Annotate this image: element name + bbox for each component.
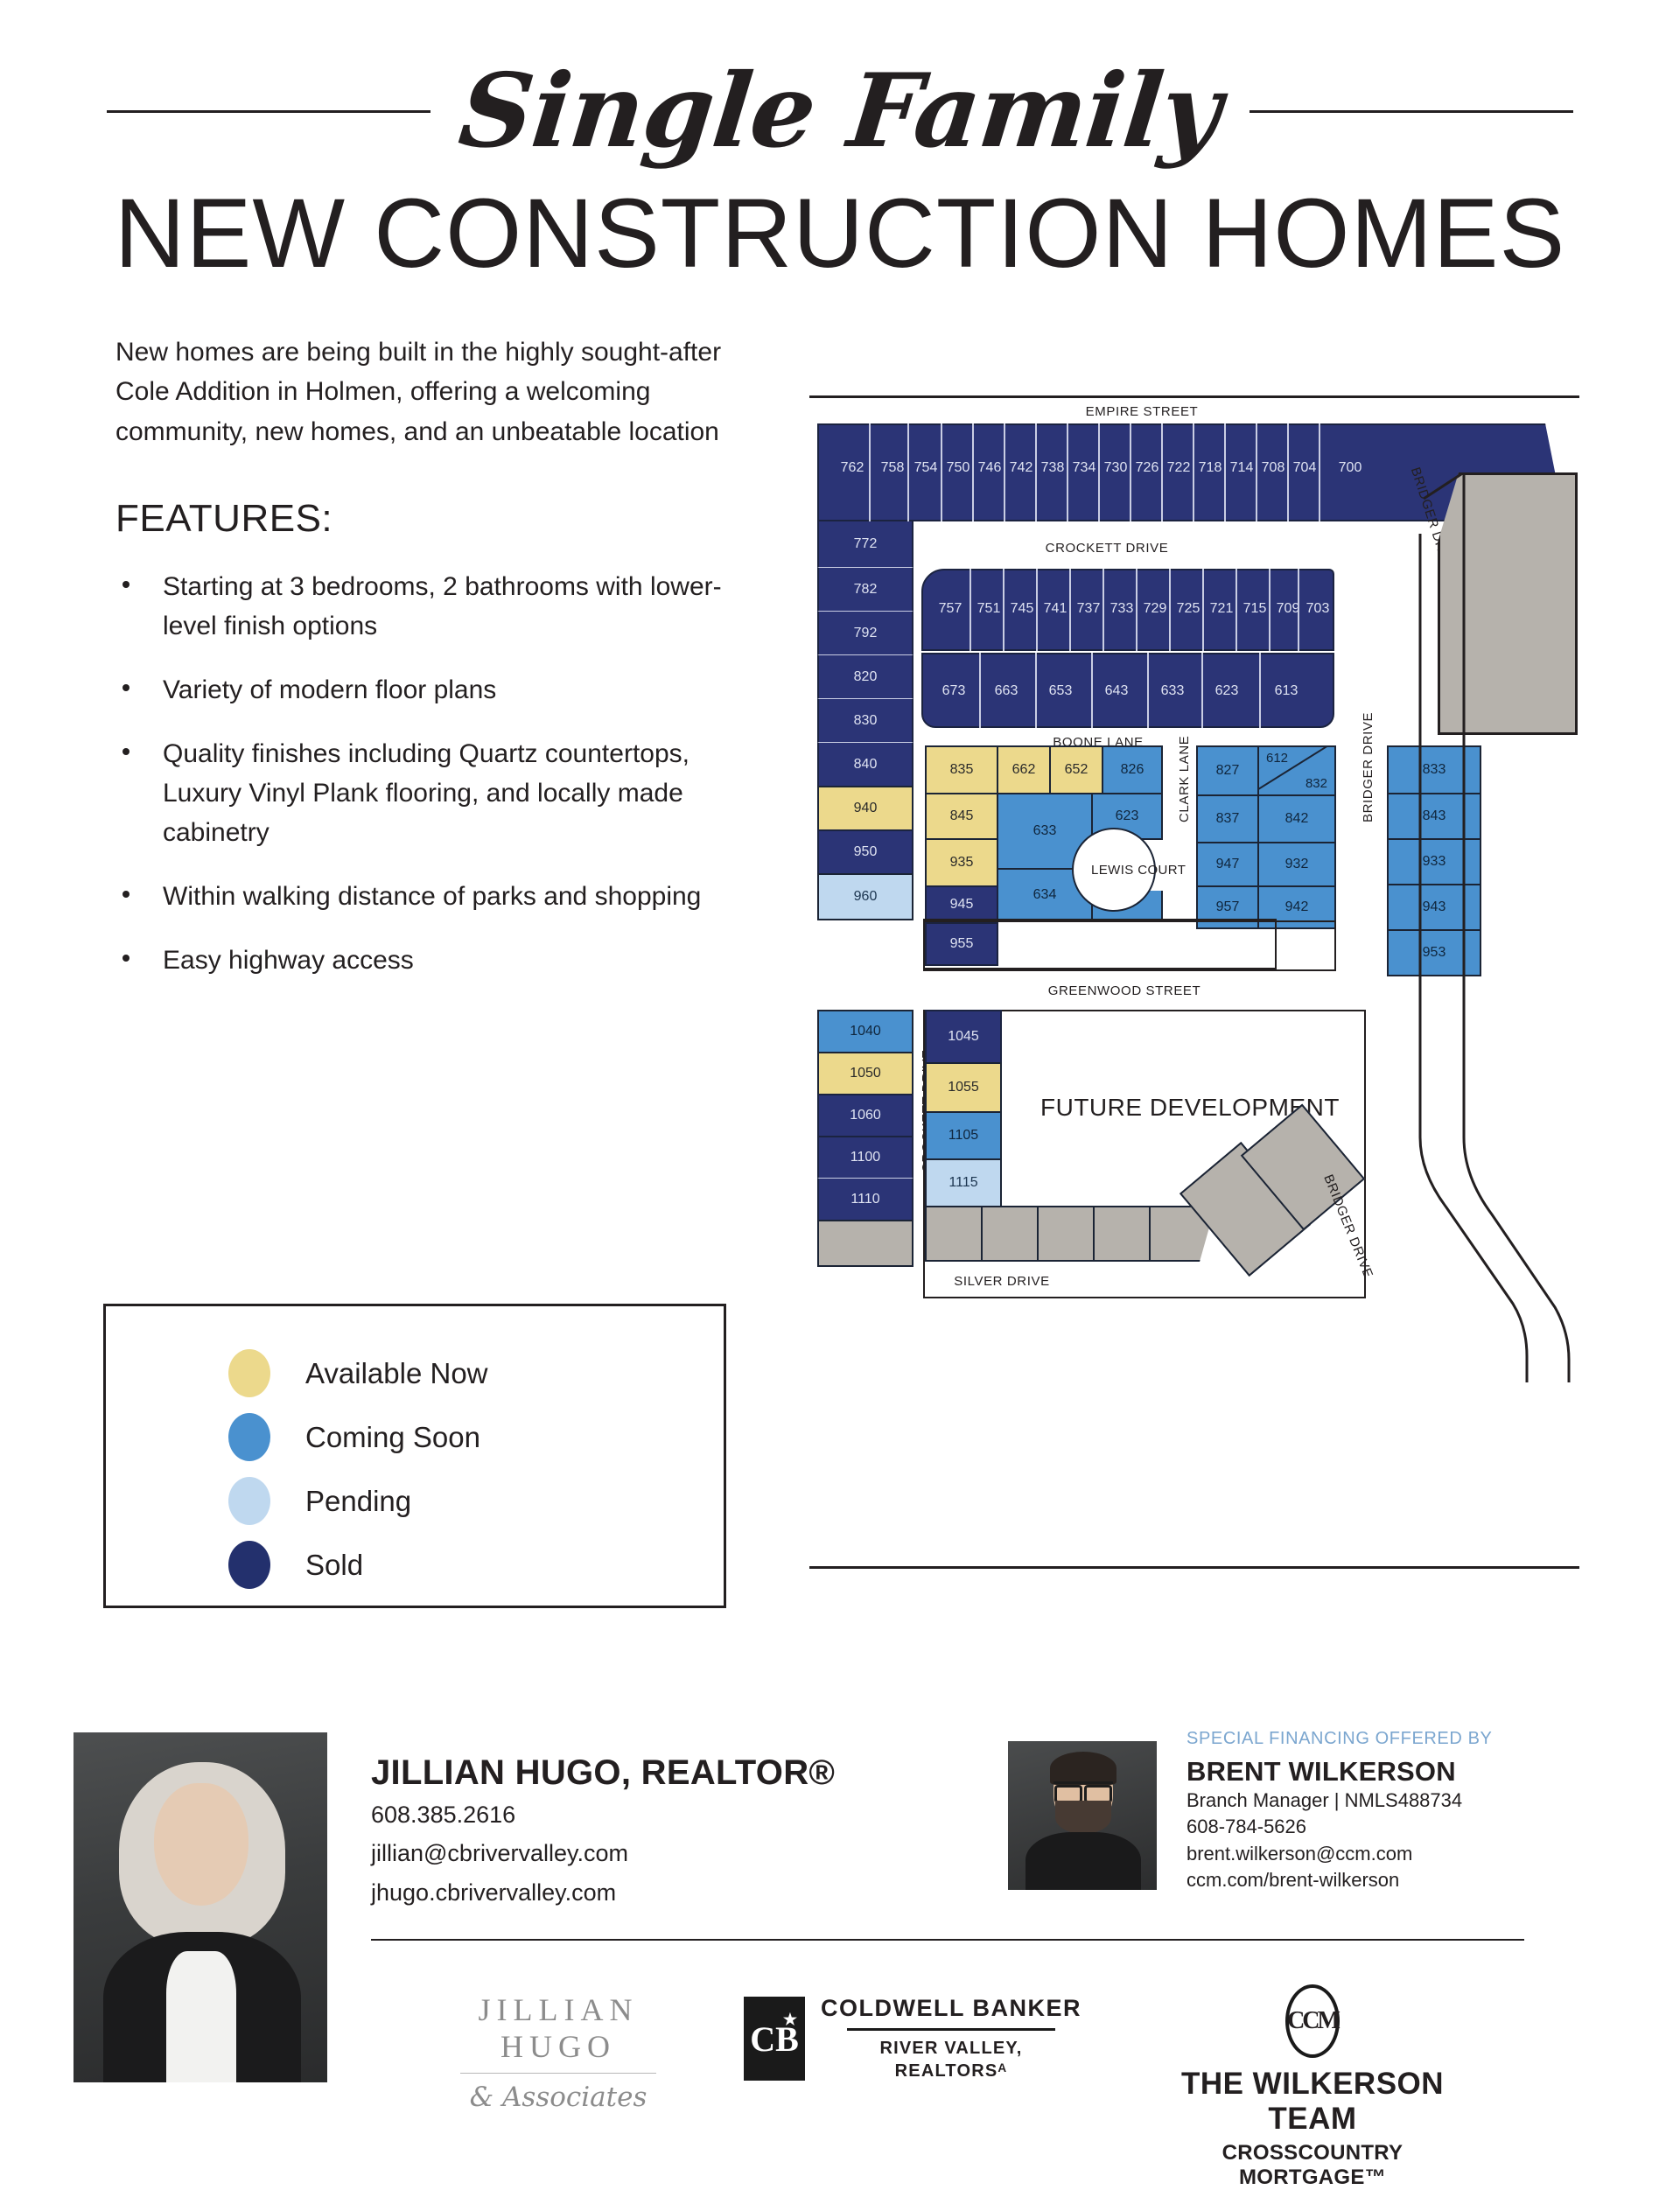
map-lot-820[interactable]: 820: [817, 654, 913, 700]
map-lot-708[interactable]: 708: [1256, 455, 1291, 481]
legend-label: Pending: [305, 1485, 411, 1518]
bridger-road-outline-upper: [1326, 472, 1579, 997]
intro-paragraph: New homes are being built in the highly …: [115, 332, 763, 452]
feature-text: Within walking distance of parks and sho…: [163, 882, 701, 911]
map-lot-827[interactable]: 827: [1196, 745, 1259, 796]
map-lot-633b[interactable]: 633: [1149, 679, 1196, 703]
lender-email[interactable]: brent.wilkerson@ccm.com: [1186, 1841, 1492, 1867]
map-lot-726[interactable]: 726: [1130, 455, 1165, 481]
legend-label: Available Now: [305, 1357, 488, 1390]
avatar-hair: [1050, 1752, 1116, 1785]
bullet-icon: [122, 684, 129, 691]
agent-website[interactable]: jhugo.cbrivervalley.com: [371, 1876, 835, 1909]
map-lot-1045[interactable]: 1045: [925, 1010, 1002, 1064]
map-lot-730[interactable]: 730: [1098, 455, 1133, 481]
map-lot-935[interactable]: 935: [925, 838, 998, 887]
map-lot-832-label: 832: [1305, 776, 1327, 791]
map-lot-1060[interactable]: 1060: [817, 1094, 913, 1137]
map-lot-750[interactable]: 750: [941, 455, 976, 481]
header-rule-left: [107, 110, 430, 113]
map-lot-754[interactable]: 754: [907, 455, 944, 481]
center-block-outline: [923, 919, 1277, 969]
avatar-face: [154, 1783, 248, 1906]
swatch-available-icon: [228, 1349, 270, 1397]
map-lot-826[interactable]: 826: [1102, 745, 1163, 794]
map-lot-947[interactable]: 947: [1196, 842, 1259, 887]
swatch-pending-icon: [228, 1477, 270, 1525]
script-title: Single Family: [455, 60, 1225, 162]
map-lot-746[interactable]: 746: [972, 455, 1007, 481]
logo-jillian-hugo: JILLIAN HUGO & Associates: [444, 1991, 672, 2113]
swatch-coming-soon-icon: [228, 1413, 270, 1461]
map-lot-940[interactable]: 940: [817, 786, 913, 831]
logo-wt-line2: CROSSCOUNTRY MORTGAGE™: [1155, 2141, 1470, 2190]
list-item: Within walking distance of parks and sho…: [115, 877, 745, 916]
map-lot-718[interactable]: 718: [1193, 455, 1228, 481]
coldwell-banker-mark-icon: CB ★: [744, 1997, 805, 2081]
map-lot-845[interactable]: 845: [925, 793, 998, 840]
map-lot-932[interactable]: 932: [1257, 842, 1336, 887]
map-parcel-gray-s3: [1037, 1206, 1095, 1262]
map-lot-663[interactable]: 663: [983, 679, 1030, 703]
legend-item-available: Available Now: [228, 1341, 724, 1405]
map-lot-1050[interactable]: 1050: [817, 1052, 913, 1095]
list-item: Variety of modern floor plans: [115, 670, 745, 710]
logo-cb-line2: RIVER VALLEY, REALTORSᴬ: [821, 2037, 1081, 2082]
map-lot-950[interactable]: 950: [817, 829, 913, 875]
map-lot-729[interactable]: 729: [1138, 597, 1172, 621]
map-lot-751[interactable]: 751: [972, 597, 1005, 621]
glasses-icon: [1053, 1781, 1113, 1795]
map-rule-top: [809, 395, 1579, 398]
map-lot-612-label: 612: [1266, 751, 1288, 766]
logo-coldwell-banker: CB ★ COLDWELL BANKER RIVER VALLEY, REALT…: [744, 1995, 1081, 2082]
ccm-mark-icon: CCM: [1285, 1984, 1340, 2058]
street-label-empire: EMPIRE STREET: [1028, 404, 1256, 419]
map-rule-bottom: [809, 1566, 1579, 1569]
lender-info: SPECIAL FINANCING OFFERED BY BRENT WILKE…: [1186, 1729, 1492, 1893]
map-parcel-gray-s4: [1093, 1206, 1151, 1262]
left-column: New homes are being built in the highly …: [115, 332, 780, 1005]
map-lot-653[interactable]: 653: [1037, 679, 1084, 703]
map-lot-1040[interactable]: 1040: [817, 1010, 913, 1053]
header-rule-right: [1249, 110, 1573, 113]
bridger-road-outline: [1326, 989, 1579, 1382]
script-title-row: Single Family: [0, 45, 1680, 177]
map-lot-662[interactable]: 662: [997, 745, 1051, 794]
map-lot-960[interactable]: 960: [817, 873, 913, 920]
feature-text: Variety of modern floor plans: [163, 675, 496, 704]
map-lot-1110[interactable]: 1110: [817, 1178, 913, 1221]
map-lot-792[interactable]: 792: [817, 611, 913, 656]
bullet-icon: [122, 581, 129, 588]
map-lot-652[interactable]: 652: [1049, 745, 1103, 794]
legend-label: Coming Soon: [305, 1421, 480, 1454]
map-lot-741[interactable]: 741: [1039, 597, 1072, 621]
map-parcel-gray-s1: [925, 1206, 983, 1262]
lender-kicker: SPECIAL FINANCING OFFERED BY: [1186, 1729, 1492, 1749]
agent-email[interactable]: jillian@cbrivervalley.com: [371, 1837, 835, 1870]
map-lot-673[interactable]: 673: [930, 679, 977, 703]
legend-item-coming-soon: Coming Soon: [228, 1405, 724, 1469]
map-lot-742[interactable]: 742: [1004, 455, 1039, 481]
bullet-icon: [122, 955, 129, 962]
logo-jillian-rule: [460, 2073, 656, 2074]
footer-divider: [371, 1939, 1524, 1941]
legend-label: Sold: [305, 1549, 363, 1582]
agent-phone[interactable]: 608.385.2616: [371, 1798, 835, 1831]
swatch-sold-icon: [228, 1541, 270, 1589]
map-lot-837[interactable]: 837: [1196, 794, 1259, 843]
map-lot-643[interactable]: 643: [1093, 679, 1140, 703]
plat-map: EMPIRE STREET 762 758 754 750 746 742 73…: [809, 385, 1579, 1627]
lender-phone[interactable]: 608-784-5626: [1186, 1814, 1492, 1840]
map-lot-725[interactable]: 725: [1172, 597, 1205, 621]
map-lot-623b[interactable]: 623: [1203, 679, 1250, 703]
street-label-lewis-court: LEWIS COURT: [1091, 863, 1186, 878]
page-title: NEW CONSTRUCTION HOMES: [0, 182, 1680, 285]
agent-name: JILLIAN HUGO, REALTOR®: [371, 1753, 835, 1793]
street-label-clark-lane: CLARK LANE: [1177, 736, 1192, 822]
legend-item-pending: Pending: [228, 1469, 724, 1533]
map-lot-721[interactable]: 721: [1205, 597, 1238, 621]
lender-title: Branch Manager | NMLS488734: [1186, 1788, 1492, 1814]
list-item: Starting at 3 bedrooms, 2 bathrooms with…: [115, 567, 745, 646]
map-lot-772[interactable]: 772: [817, 521, 913, 569]
map-lot-757[interactable]: 757: [932, 597, 969, 621]
street-label-crockett-top: CROCKETT DRIVE: [993, 541, 1221, 556]
map-lot-782[interactable]: 782: [817, 567, 913, 612]
map-lot-704[interactable]: 704: [1287, 455, 1322, 481]
features-list: Starting at 3 bedrooms, 2 bathrooms with…: [115, 567, 780, 980]
footer-logos: JILLIAN HUGO & Associates CB ★ COLDWELL …: [0, 1979, 1680, 2145]
list-item: Quality finishes including Quartz counte…: [115, 734, 745, 852]
bullet-icon: [122, 891, 129, 898]
lender-website[interactable]: ccm.com/brent-wilkerson: [1186, 1867, 1492, 1893]
map-lot-745[interactable]: 745: [1005, 597, 1039, 621]
logo-cb-rule: [847, 2028, 1055, 2031]
agent-info: JILLIAN HUGO, REALTOR® 608.385.2616 jill…: [371, 1753, 835, 1909]
avatar-body: [1025, 1832, 1141, 1890]
map-lot-1100[interactable]: 1100: [817, 1136, 913, 1179]
map-lot-737[interactable]: 737: [1072, 597, 1105, 621]
star-icon: ★: [783, 2011, 797, 2029]
lender-name: BRENT WILKERSON: [1186, 1756, 1492, 1788]
map-lot-835[interactable]: 835: [925, 745, 998, 794]
map-lot-714[interactable]: 714: [1224, 455, 1259, 481]
coldwell-banker-text: COLDWELL BANKER RIVER VALLEY, REALTORSᴬ: [821, 1995, 1081, 2082]
list-item: Easy highway access: [115, 941, 745, 980]
map-lot-1115[interactable]: 1115: [925, 1158, 1002, 1207]
map-parcel-gray-southwest: [817, 1220, 913, 1267]
map-lot-840[interactable]: 840: [817, 742, 913, 787]
avatar-beard: [1055, 1801, 1111, 1834]
map-lot-612-832-split[interactable]: 612 832: [1257, 745, 1336, 796]
street-label-silver: SILVER DRIVE: [914, 1274, 1089, 1289]
feature-text: Easy highway access: [163, 946, 414, 975]
logo-wt-line1: THE WILKERSON TEAM: [1155, 2067, 1470, 2137]
map-lot-715[interactable]: 715: [1238, 597, 1271, 621]
logo-cb-line1: COLDWELL BANKER: [821, 1995, 1081, 2022]
map-lot-1105[interactable]: 1105: [925, 1111, 1002, 1160]
feature-text: Starting at 3 bedrooms, 2 bathrooms with…: [163, 572, 722, 640]
features-heading: FEATURES:: [115, 497, 780, 541]
map-lot-762[interactable]: 762: [829, 455, 876, 481]
legend-item-sold: Sold: [228, 1533, 724, 1597]
logo-jillian-line1: JILLIAN HUGO: [444, 1991, 672, 2065]
map-lot-842[interactable]: 842: [1257, 794, 1336, 843]
map-parcel-gray-s2: [981, 1206, 1039, 1262]
map-lot-613[interactable]: 613: [1263, 679, 1310, 703]
avatar-brent: [1008, 1741, 1157, 1890]
feature-text: Quality finishes including Quartz counte…: [163, 739, 689, 847]
map-lot-709[interactable]: 709: [1271, 597, 1305, 621]
logo-wilkerson-team: CCM THE WILKERSON TEAM CROSSCOUNTRY MORT…: [1155, 1984, 1470, 2190]
logo-jillian-line2: & Associates: [444, 2082, 672, 2113]
map-legend: Available Now Coming Soon Pending Sold: [103, 1304, 726, 1608]
map-lot-722[interactable]: 722: [1161, 455, 1196, 481]
map-lot-830[interactable]: 830: [817, 698, 913, 744]
map-lot-738[interactable]: 738: [1035, 455, 1070, 481]
bullet-icon: [122, 748, 129, 755]
map-lot-1055[interactable]: 1055: [925, 1062, 1002, 1113]
page-header: Single Family NEW CONSTRUCTION HOMES: [0, 0, 1680, 285]
map-lot-734[interactable]: 734: [1067, 455, 1102, 481]
map-lot-733[interactable]: 733: [1105, 597, 1138, 621]
street-label-greenwood: GREENWOOD STREET: [1011, 983, 1238, 998]
